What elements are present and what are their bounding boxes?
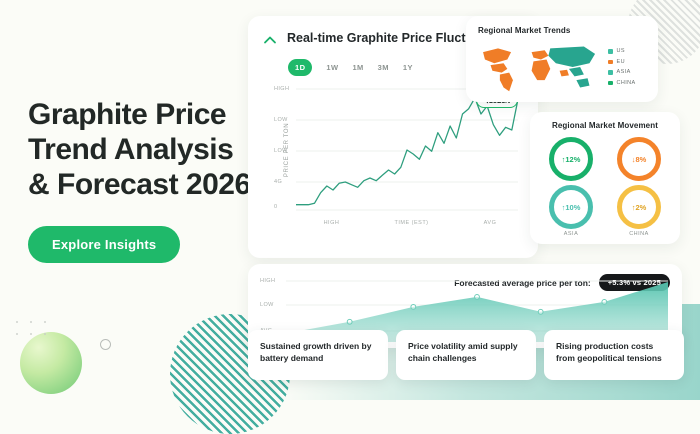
tab-1y[interactable]: 1Y [403, 63, 413, 72]
world-map-icon [478, 39, 602, 95]
price-line-chart: PRICE PER TON HIGH LOW LOW 4G 0 ₹1523/t [262, 84, 524, 216]
movement-ring-0: ↑12% [549, 137, 593, 181]
movement-label-2: ASIA [564, 231, 579, 237]
map-legend: US EU ASIA CHINA [608, 48, 636, 86]
page-title: Graphite Price Trend Analysis & Forecast… [28, 98, 260, 202]
dot-grid-decoration [10, 316, 46, 338]
movement-value-1: 8% [635, 155, 646, 164]
regional-trends-body: US EU ASIA CHINA [478, 39, 646, 95]
legend-label-china: CHINA [617, 80, 636, 86]
x-axis-ticks: HIGH TIME (EST) AVG [296, 220, 524, 226]
regional-trends-title: Regional Market Trends [478, 26, 646, 35]
legend-item-asia: ASIA [608, 69, 636, 75]
movement-value-0: 12% [565, 155, 580, 164]
legend-swatch-eu [608, 60, 613, 65]
regional-trends-card: Regional Market Trends [466, 16, 658, 102]
tab-1m[interactable]: 1M [352, 63, 363, 72]
tab-1w[interactable]: 1W [326, 63, 338, 72]
movement-cell-2: ↑10% ASIA [538, 185, 604, 237]
y-tick-1: LOW [274, 117, 288, 123]
tab-1d[interactable]: 1D [288, 59, 312, 76]
legend-item-eu: EU [608, 59, 636, 65]
insight-card-1: Price volatility amid supply chain chall… [396, 330, 536, 380]
x-tick-2: AVG [484, 220, 497, 226]
legend-label-asia: ASIA [617, 69, 631, 75]
insight-card-2: Rising production costs from geopolitica… [544, 330, 684, 380]
movement-ring-3: ↑2% [617, 185, 661, 229]
forecast-y-tick-0: HIGH [260, 278, 275, 284]
tab-3m[interactable]: 3M [378, 63, 389, 72]
y-tick-4: 0 [274, 204, 277, 210]
movement-value-3: 2% [635, 203, 646, 212]
legend-item-us: US [608, 48, 636, 54]
movement-ring-2: ↑10% [549, 185, 593, 229]
legend-item-china: CHINA [608, 80, 636, 86]
hero-section: Graphite Price Trend Analysis & Forecast… [28, 98, 260, 263]
y-tick-2: LOW [274, 148, 288, 154]
x-tick-0: HIGH [324, 220, 340, 226]
legend-swatch-us [608, 49, 613, 54]
movement-value-2: 10% [565, 203, 580, 212]
legend-swatch-asia [608, 70, 613, 75]
chevron-up-icon[interactable] [262, 32, 278, 48]
market-movement-card: Regional Market Movement ↑12% ↓8% ↑10% A… [530, 112, 680, 244]
poster-canvas: Graphite Price Trend Analysis & Forecast… [0, 0, 700, 400]
green-gradient-circle-decoration [20, 332, 82, 394]
movement-ring-1: ↓8% [617, 137, 661, 181]
movement-cell-0: ↑12% [538, 137, 604, 183]
legend-label-us: US [617, 48, 625, 54]
market-movement-title: Regional Market Movement [538, 121, 672, 130]
movement-cell-3: ↑2% CHINA [606, 185, 672, 237]
movement-cell-1: ↓8% [606, 137, 672, 183]
x-tick-1: TIME (EST) [394, 220, 428, 226]
small-ring-decoration [100, 339, 111, 350]
insight-card-0: Sustained growth driven by battery deman… [248, 330, 388, 380]
y-tick-0: HIGH [274, 86, 289, 92]
y-tick-3: 4G [274, 179, 282, 185]
explore-insights-button[interactable]: Explore Insights [28, 226, 180, 263]
movement-label-3: CHINA [629, 231, 649, 237]
forecast-y-tick-1: LOW [260, 302, 274, 308]
movement-grid: ↑12% ↓8% ↑10% ASIA ↑2% CHINA [538, 137, 672, 237]
legend-label-eu: EU [617, 59, 625, 65]
legend-swatch-china [608, 81, 613, 86]
